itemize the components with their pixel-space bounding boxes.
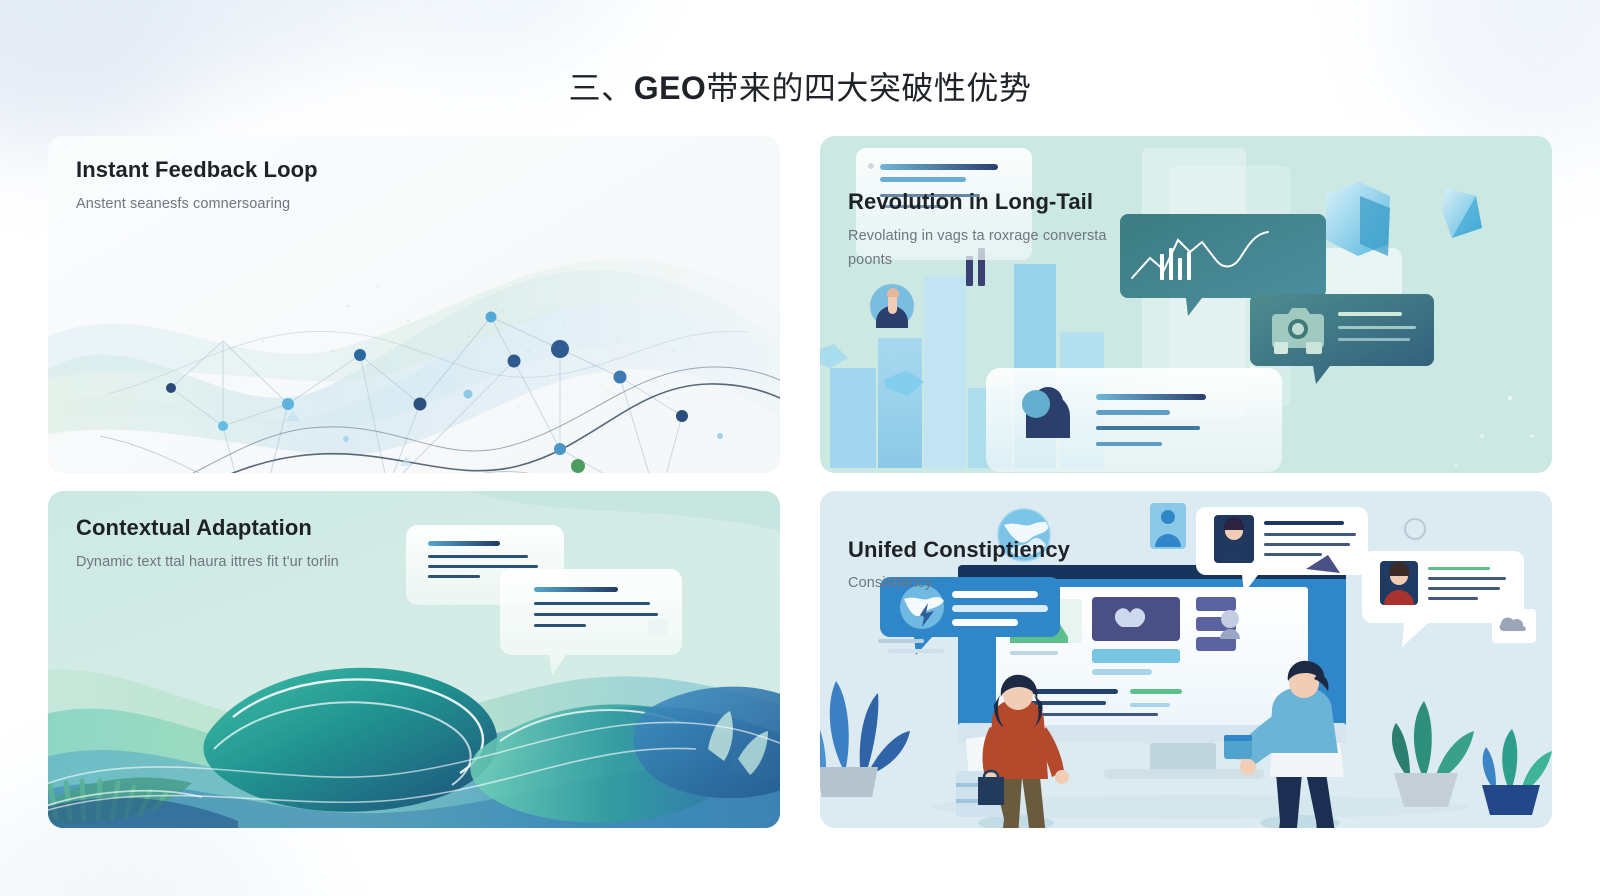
page-title-prefix: 三、 bbox=[569, 70, 634, 106]
card-subtitle: Consisttency bbox=[848, 571, 1070, 595]
card-instant-feedback-loop[interactable]: Instant Feedback Loop Anstent seanesfs c… bbox=[48, 136, 780, 473]
card-text-block: Instant Feedback Loop Anstent seanesfs c… bbox=[76, 156, 318, 216]
background-blob bbox=[330, 0, 630, 70]
long-tail-chat-chart-illustration bbox=[820, 136, 1552, 473]
card-title: Instant Feedback Loop bbox=[76, 156, 318, 185]
card-revolution-in-long-tail[interactable]: Revolution in Long-Tail Revolating in va… bbox=[820, 136, 1552, 473]
card-title: Contextual Adaptation bbox=[76, 514, 339, 543]
card-title: Revolution in Long-Tail bbox=[848, 188, 1148, 217]
card-text-block: Contextual Adaptation Dynamic text ttal … bbox=[76, 514, 339, 574]
advantage-card-grid: Instant Feedback Loop Anstent seanesfs c… bbox=[48, 136, 1552, 828]
card-unified-consistency[interactable]: Unifed Constiptiency Consisttency bbox=[820, 491, 1552, 828]
page-title-strong: GEO bbox=[634, 70, 707, 106]
card-title: Unifed Constiptiency bbox=[848, 535, 1070, 564]
card-text-block: Revolution in Long-Tail Revolating in va… bbox=[848, 188, 1148, 272]
card-subtitle: Revolating in vags ta roxrage conversta … bbox=[848, 224, 1148, 273]
page-title: 三、GEO带来的四大突破性优势 bbox=[0, 67, 1600, 109]
page-title-suffix: 带来的四大突破性优势 bbox=[706, 70, 1031, 106]
card-subtitle: Dynamic text ttal haura ittres fit t'ur … bbox=[76, 550, 339, 574]
card-text-block: Unifed Constiptiency Consisttency bbox=[848, 535, 1070, 595]
card-subtitle: Anstent seanesfs comnersoaring bbox=[76, 192, 318, 216]
card-contextual-adaptation[interactable]: Contextual Adaptation Dynamic text ttal … bbox=[48, 491, 780, 828]
